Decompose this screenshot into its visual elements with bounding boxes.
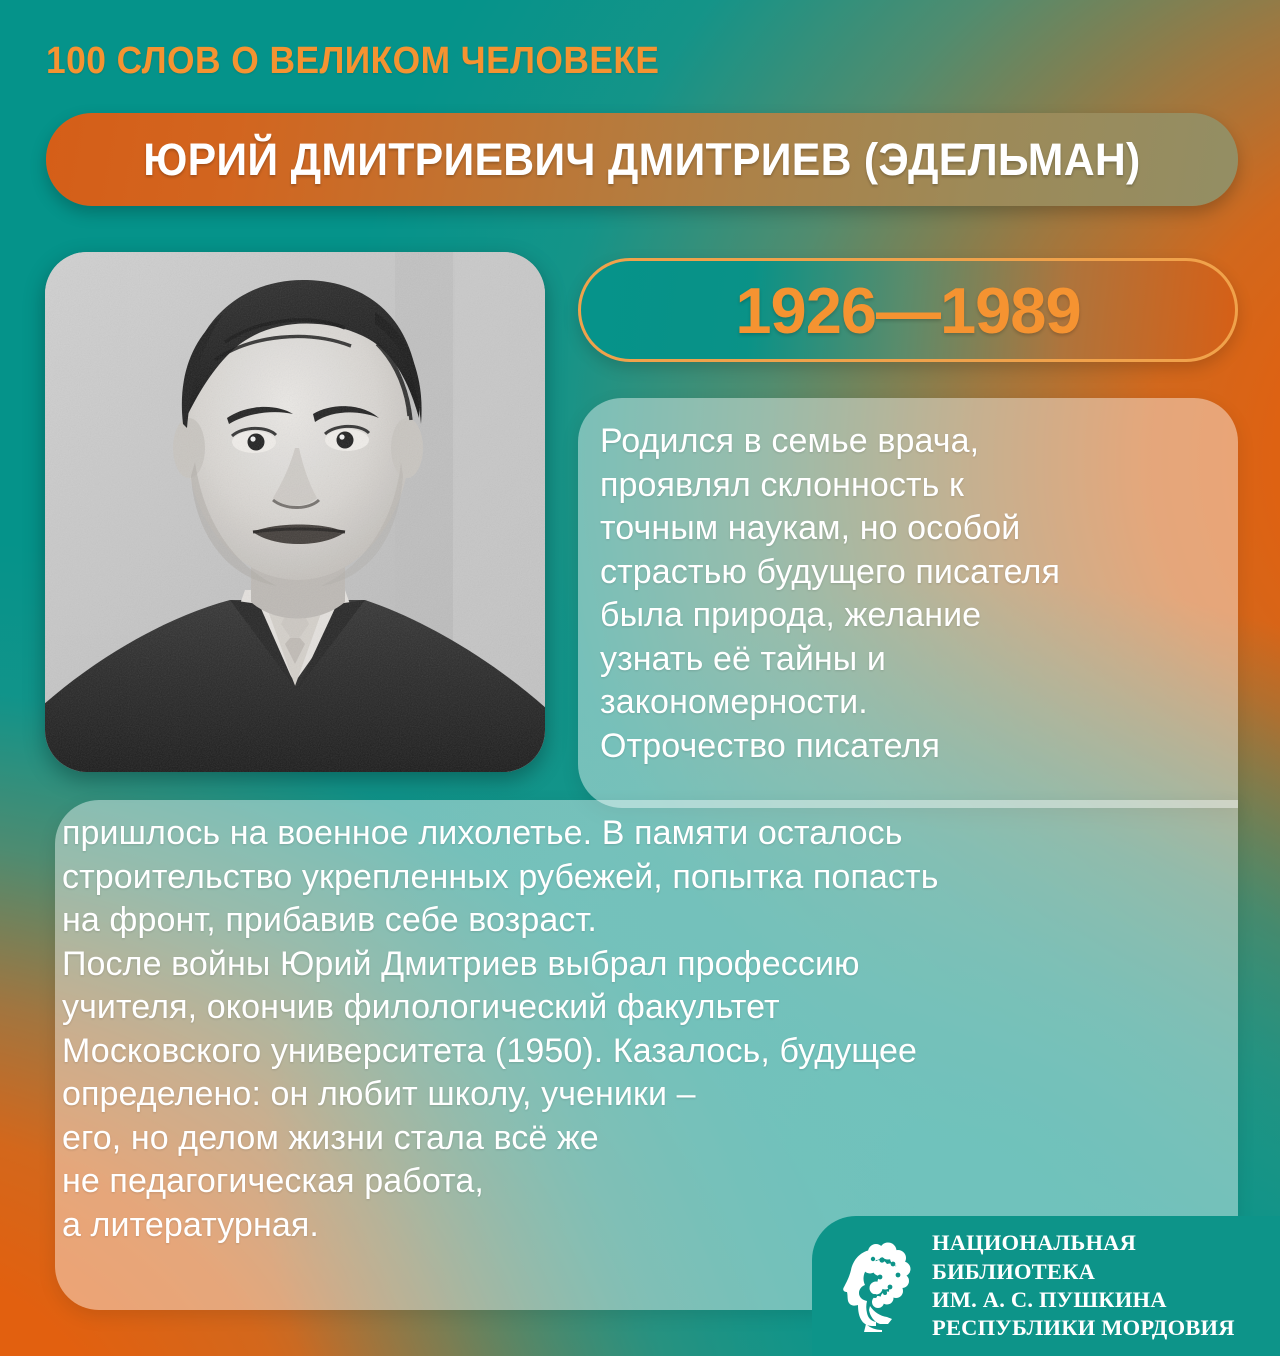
person-name: ЮРИЙ ДМИТРИЕВИЧ ДМИТРИЕВ (ЭДЕЛЬМАН)	[143, 134, 1140, 186]
portrait-photo	[45, 252, 545, 772]
library-name: НАЦИОНАЛЬНАЯ БИБЛИОТЕКА ИМ. А. С. ПУШКИН…	[932, 1229, 1280, 1342]
poster-root: 100 СЛОВ О ВЕЛИКОМ ЧЕЛОВЕКЕ ЮРИЙ ДМИТРИЕ…	[0, 0, 1280, 1356]
name-banner: ЮРИЙ ДМИТРИЕВИЧ ДМИТРИЕВ (ЭДЕЛЬМАН)	[46, 113, 1238, 206]
pushkin-profile-icon	[840, 1240, 914, 1332]
life-years-badge: 1926—1989	[578, 258, 1238, 362]
life-years: 1926—1989	[735, 273, 1080, 348]
biography-paragraph-bottom: пришлось на военное лихолетье. В памяти …	[62, 812, 1222, 1247]
library-footer: НАЦИОНАЛЬНАЯ БИБЛИОТЕКА ИМ. А. С. ПУШКИН…	[812, 1216, 1280, 1356]
biography-paragraph-top: Родился в семье врача, проявлял склоннос…	[600, 420, 1230, 768]
series-title: 100 СЛОВ О ВЕЛИКОМ ЧЕЛОВЕКЕ	[46, 40, 659, 83]
